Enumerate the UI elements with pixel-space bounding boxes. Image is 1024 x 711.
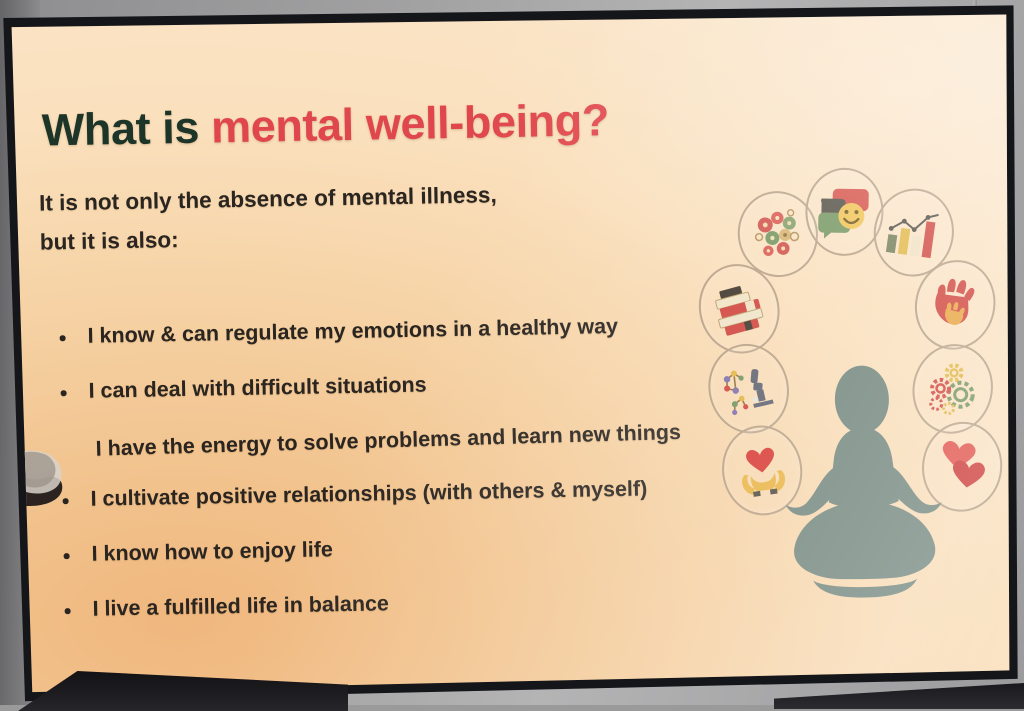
- bullet-text: I cultivate positive relationships (with…: [90, 477, 647, 511]
- slide-lead-text: It is not only the absence of mental ill…: [39, 176, 498, 262]
- bullet-dot-icon: [65, 608, 71, 614]
- speech-bubbles-icon: [805, 167, 884, 256]
- list-item: I have the energy to solve problems and …: [59, 419, 719, 463]
- bullet-dot-icon: [60, 335, 66, 341]
- slide-title-part-red: mental well-being?: [211, 94, 610, 152]
- list-item: I live a fulfilled life in balance: [56, 585, 716, 622]
- slide-title: What is mental well-being?: [41, 94, 609, 156]
- wellbeing-graphic: [681, 173, 999, 629]
- slide-bullet-list: I know & can regulate my emotions in a h…: [51, 312, 717, 652]
- bullet-text: I can deal with difficult situations: [88, 373, 426, 403]
- bullet-dot-icon: [61, 390, 67, 396]
- bullet-text: I have the energy to solve problems and …: [95, 420, 681, 461]
- bullet-text: I know how to enjoy life: [91, 537, 333, 565]
- meditating-person-silhouette: [779, 364, 948, 612]
- list-item: I can deal with difficult situations: [52, 367, 712, 404]
- bullet-text: I know & can regulate my emotions in a h…: [87, 314, 618, 348]
- presentation-screen: What is mental well-being? It is not onl…: [0, 4, 1024, 704]
- slide-title-part-dark: What is: [41, 101, 211, 155]
- list-item: I know how to enjoy life: [55, 530, 715, 567]
- slide-lead-line-2: but it is also:: [40, 215, 498, 262]
- list-item: I cultivate positive relationships (with…: [54, 475, 714, 512]
- list-item: I know & can regulate my emotions in a h…: [51, 312, 711, 349]
- bullet-text: I live a fulfilled life in balance: [92, 591, 389, 620]
- slide: What is mental well-being? It is not onl…: [0, 4, 1024, 704]
